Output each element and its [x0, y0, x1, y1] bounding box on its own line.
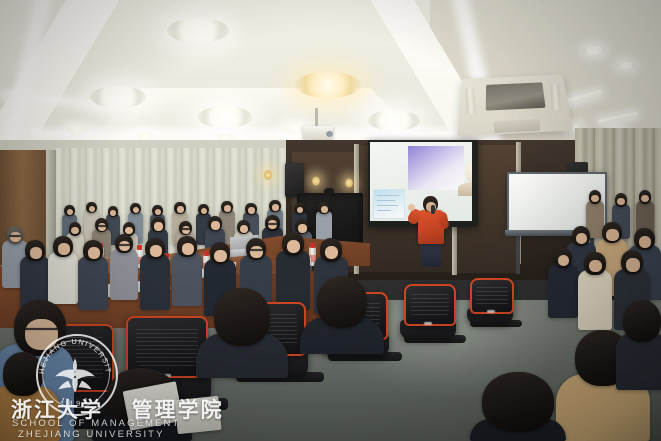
ceiling-light-dl5 [368, 110, 420, 131]
air-conditioner-vent-left [465, 88, 476, 115]
chair-back-slats [476, 284, 508, 306]
face [606, 229, 618, 241]
wall-sconce-3 [264, 170, 272, 180]
glasses-icon [181, 228, 191, 230]
glasses-icon [267, 223, 278, 225]
face [110, 210, 116, 216]
air-conditioner-lower-vent [494, 119, 541, 133]
slide-side-panel [373, 189, 405, 219]
front-document-left [174, 396, 221, 434]
face [201, 208, 208, 214]
air-conditioner-vent-right [550, 84, 561, 111]
glasses-icon [249, 249, 264, 251]
face [25, 319, 57, 350]
ceiling-light-dl2 [90, 86, 146, 108]
chair-backrest [470, 278, 514, 314]
chair-backrest [404, 284, 456, 326]
face [321, 206, 328, 213]
ceiling-light-dl11 [617, 62, 635, 69]
wall-speaker-left [285, 163, 304, 197]
face [558, 255, 570, 266]
whiteboard-leg-left [516, 236, 520, 274]
projector-mount-pole [315, 108, 318, 128]
ceiling-light-dl4 [198, 106, 252, 128]
face [58, 243, 70, 255]
projector-lens-icon [326, 131, 333, 137]
wall-sconce-2 [345, 178, 353, 188]
torso [78, 256, 108, 310]
chair-back-slats [136, 326, 198, 367]
face [154, 222, 163, 230]
face [177, 206, 184, 213]
glasses-icon [97, 225, 107, 227]
presenter-hand [408, 204, 415, 211]
front-person-center-dark [196, 288, 288, 378]
head [482, 372, 554, 432]
face [224, 205, 231, 212]
face [576, 233, 588, 244]
ceiling-light-dl7 [66, 126, 88, 135]
face [626, 258, 640, 271]
face [89, 206, 96, 212]
ceiling-light-dl1 [167, 18, 229, 43]
torso [48, 252, 78, 304]
torso [578, 270, 612, 330]
face [250, 246, 263, 258]
face [214, 250, 227, 262]
front-person-mid-dark [300, 276, 384, 354]
audience-mid-5 [110, 234, 138, 300]
face [133, 207, 140, 213]
audience-mid-6 [140, 238, 170, 310]
glasses-icon [118, 244, 131, 246]
audience-mid-right-4 [548, 248, 578, 318]
audience-mid-3 [48, 236, 78, 304]
chair-back-slats [411, 291, 449, 318]
face [297, 207, 304, 213]
air-conditioner-grill [486, 82, 546, 110]
torso [110, 249, 138, 300]
head [623, 300, 661, 342]
audience-mid-4 [78, 240, 108, 310]
torso [140, 254, 170, 310]
slide-portrait-shoulders [458, 182, 472, 196]
front-person-bottom-right [470, 372, 566, 441]
slide-portrait-photo [408, 146, 464, 190]
face [248, 207, 255, 214]
face [272, 204, 279, 211]
audience-mid-right-5 [578, 252, 612, 330]
torso [548, 264, 578, 318]
ceiling-light-dl3 [295, 72, 361, 98]
head [317, 276, 367, 328]
face [30, 247, 42, 259]
glasses-icon [9, 235, 21, 237]
face [182, 243, 194, 255]
chair-highlight [424, 322, 432, 325]
microphone-icon [431, 205, 435, 214]
face [88, 247, 100, 259]
face [150, 245, 162, 257]
head [214, 288, 270, 346]
presenter-legs [421, 241, 441, 267]
ceiling-light-dl8 [135, 132, 155, 140]
ceiling-light-dl10 [583, 46, 605, 55]
front-person-tan [0, 352, 60, 441]
face [155, 209, 162, 215]
face [639, 236, 652, 248]
camera-icon [324, 188, 334, 196]
wall-sconce-1 [312, 176, 320, 186]
face [211, 221, 220, 229]
lecture-photo: ZHEJIANG UNIVERSITY 1 8 9 7 浙江大学 管理学院 SC… [0, 0, 661, 441]
face [240, 225, 248, 233]
front-person-far-right-dark [616, 300, 661, 390]
head [3, 352, 43, 396]
chair-highlight [487, 310, 495, 313]
face [67, 209, 74, 215]
glasses-icon [21, 328, 59, 330]
